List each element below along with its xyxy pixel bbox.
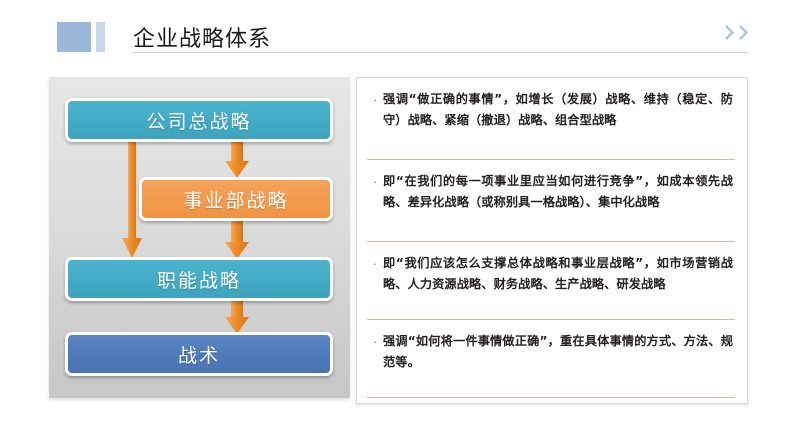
bullet-marker: ·: [367, 171, 383, 188]
connector-corporate-to-business: [223, 140, 251, 180]
bullet-text: 即“在我们的每一项事业里应当如何进行竞争”，如成本领先战略、差异化战略（或称别具…: [383, 171, 733, 214]
diagram-node-tactics[interactable]: 战术: [65, 332, 333, 376]
connector-function-to-tactics: [223, 299, 251, 336]
header-accent-block-secondary: [96, 22, 105, 52]
bullet-marker: ·: [367, 331, 383, 348]
bullet-text: 强调“如何将一件事情做正确”，重在具体事情的方式、方法、规范等。: [383, 331, 733, 374]
bullet-text: 强调“做正确的事情”，如增长（发展）战略、维持（稳定、防守）战略、紧缩（撤退）战…: [383, 89, 733, 132]
strategy-descriptions-panel: · 强调“做正确的事情”，如增长（发展）战略、维持（稳定、防守）战略、紧缩（撤退…: [356, 77, 748, 404]
list-item: · 即“我们应该怎么支撑总体战略和事业层战略”，如市场营销战略、人力资源战略、财…: [357, 242, 747, 320]
diagram-node-corporate-strategy[interactable]: 公司总战略: [65, 98, 333, 142]
chevron-right-icon[interactable]: [739, 25, 748, 40]
chevron-right-icon[interactable]: [725, 25, 734, 40]
list-item: · 强调“如何将一件事情做正确”，重在具体事情的方式、方法、规范等。: [357, 320, 747, 398]
header-divider: [133, 52, 748, 53]
strategy-hierarchy-diagram: 公司总战略 事业部战略 职能战略 战术: [49, 77, 350, 398]
list-item: · 强调“做正确的事情”，如增长（发展）战略、维持（稳定、防守）战略、紧缩（撤退…: [357, 78, 747, 160]
slide-header: 企业战略体系: [0, 0, 800, 70]
page-title: 企业战略体系: [133, 21, 271, 53]
bullet-separator: [367, 397, 735, 398]
bullet-text: 即“我们应该怎么支撑总体战略和事业层战略”，如市场营销战略、人力资源战略、财务战…: [383, 253, 733, 296]
connector-business-to-function: [223, 219, 251, 261]
diagram-node-business-unit-strategy[interactable]: 事业部战略: [139, 177, 333, 221]
list-item: · 即“在我们的每一项事业里应当如何进行竞争”，如成本领先战略、差异化战略（或称…: [357, 160, 747, 242]
bullet-marker: ·: [367, 253, 383, 270]
diagram-node-functional-strategy[interactable]: 职能战略: [65, 257, 333, 301]
bullet-marker: ·: [367, 89, 383, 106]
header-accent-block-primary: [57, 22, 91, 52]
header-next-arrows[interactable]: [725, 25, 748, 40]
